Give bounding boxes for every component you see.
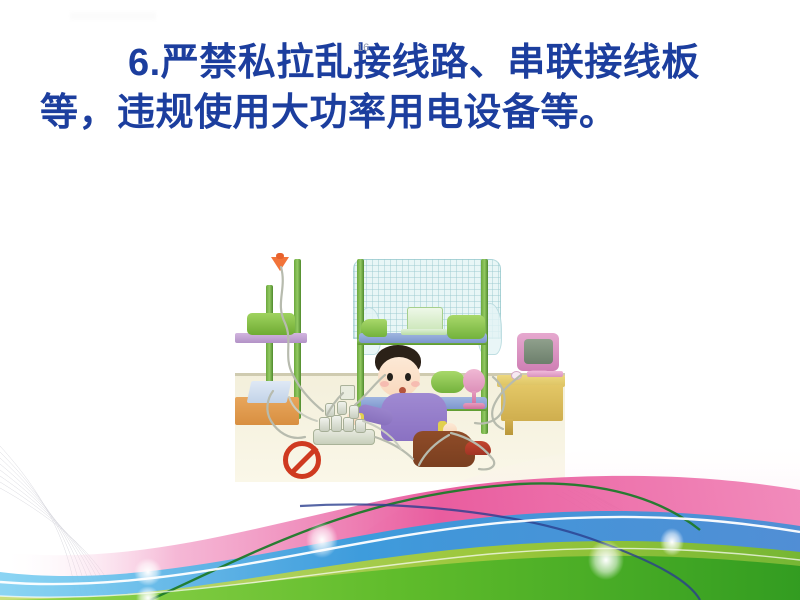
wave-svg <box>0 420 800 600</box>
top-faint-band <box>70 12 156 20</box>
slide-number: 16 <box>357 42 369 54</box>
slide-canvas: 6.严禁私拉乱接线路、串联接线板 等，违规使用大功率用电设备等。 16 <box>0 0 800 600</box>
title-line-2: 等，违规使用大功率用电设备等。 <box>40 88 760 138</box>
page-title: 6.严禁私拉乱接线路、串联接线板 等，违规使用大功率用电设备等。 <box>40 38 760 138</box>
title-line-1-text: 严禁私拉乱接线路、串联接线板 <box>161 42 700 84</box>
bottom-wave-decoration <box>0 420 800 600</box>
title-number-prefix: 6. <box>128 42 161 84</box>
title-line-1: 6.严禁私拉乱接线路、串联接线板 <box>40 38 760 88</box>
